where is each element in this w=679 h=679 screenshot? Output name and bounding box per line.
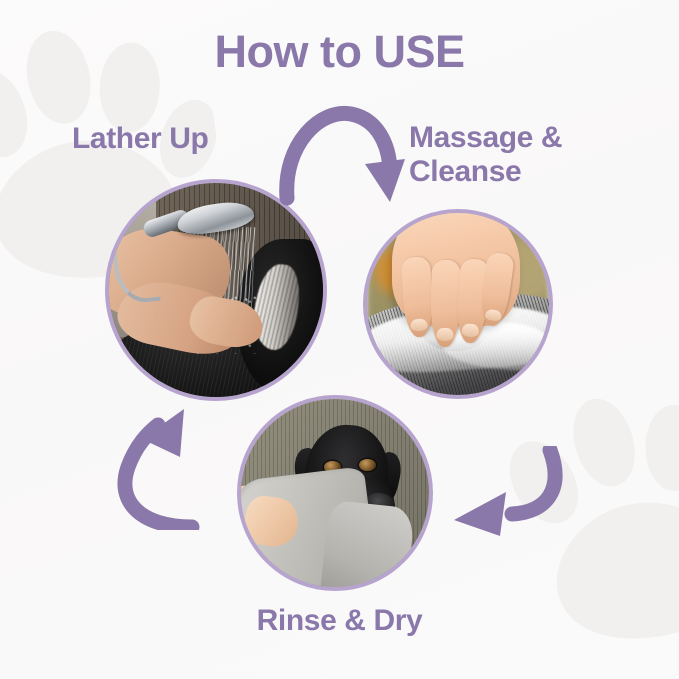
step-photo-lather — [105, 179, 327, 401]
step-label-massage: Massage & Cleanse — [409, 121, 562, 188]
step-label-lather: Lather Up — [72, 122, 208, 156]
photo-scene-towel — [241, 399, 429, 587]
arrow-rinse-to-lather — [106, 405, 226, 535]
how-to-use-infographic: How to USE Lather Up Massage & Cleanse R… — [0, 0, 679, 679]
step-label-rinse: Rinse & Dry — [0, 604, 679, 638]
photo-scene-shower — [109, 183, 323, 397]
arrow-massage-to-rinse — [450, 446, 570, 563]
photo-scene-massage — [367, 213, 549, 395]
step-photo-rinse — [237, 395, 433, 591]
step-photo-massage — [363, 209, 553, 399]
page-title: How to USE — [0, 26, 679, 78]
